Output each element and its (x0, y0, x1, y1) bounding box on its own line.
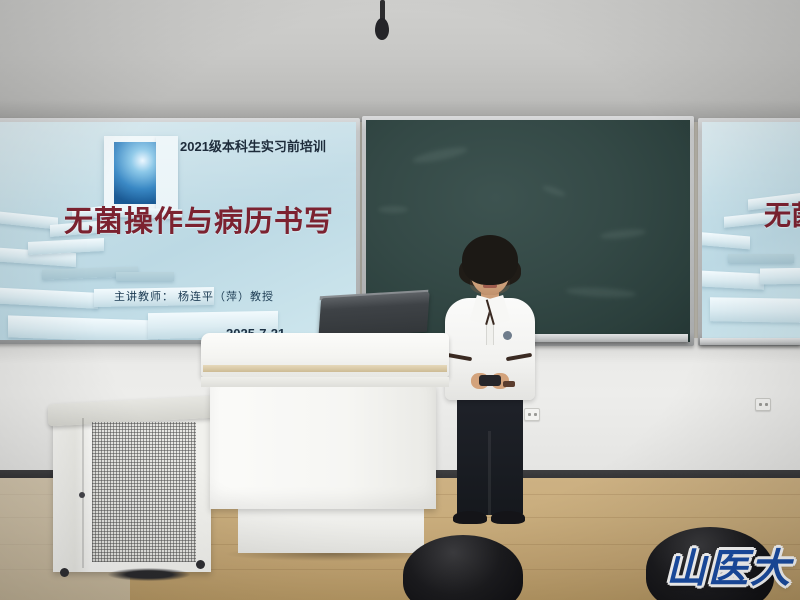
slide-right-title-text: 无菌 (764, 194, 800, 233)
shirt-logo-icon (503, 331, 512, 340)
projection-screen-left: 2021级本科生实习前培训 无菌操作与病历书写 主讲教师： 杨连平（萍）教授 2… (0, 118, 360, 344)
student-head (403, 535, 523, 600)
lectern-stripe (203, 365, 447, 372)
ceiling-sensor-icon (374, 0, 390, 42)
presentation-clicker[interactable] (479, 375, 501, 386)
cabinet-knob-icon[interactable] (79, 492, 85, 498)
slide-banner-text: 2021级本科生实习前培训 (180, 136, 326, 155)
laptop-screen[interactable] (318, 292, 429, 339)
chalk-tray-right (700, 338, 800, 345)
presenter (437, 235, 541, 535)
slide-presenter-text: 主讲教师： 杨连平（萍）教授 (114, 288, 274, 304)
slide-right: 无菌 (702, 122, 800, 342)
watermark-logo: 山医大 (666, 536, 792, 594)
slide-left: 2021级本科生实习前培训 无菌操作与病历书写 主讲教师： 杨连平（萍）教授 2… (0, 122, 356, 340)
projection-screen-right: 无菌 (698, 118, 800, 346)
slide-title-text: 无菌操作与病历书写 (64, 198, 334, 240)
presenter-hair (462, 235, 518, 285)
classroom-photo: 2021级本科生实习前培训 无菌操作与病历书写 主讲教师： 杨连平（萍）教授 2… (0, 0, 800, 600)
wristwatch (503, 381, 515, 387)
power-outlet-right (755, 398, 771, 411)
